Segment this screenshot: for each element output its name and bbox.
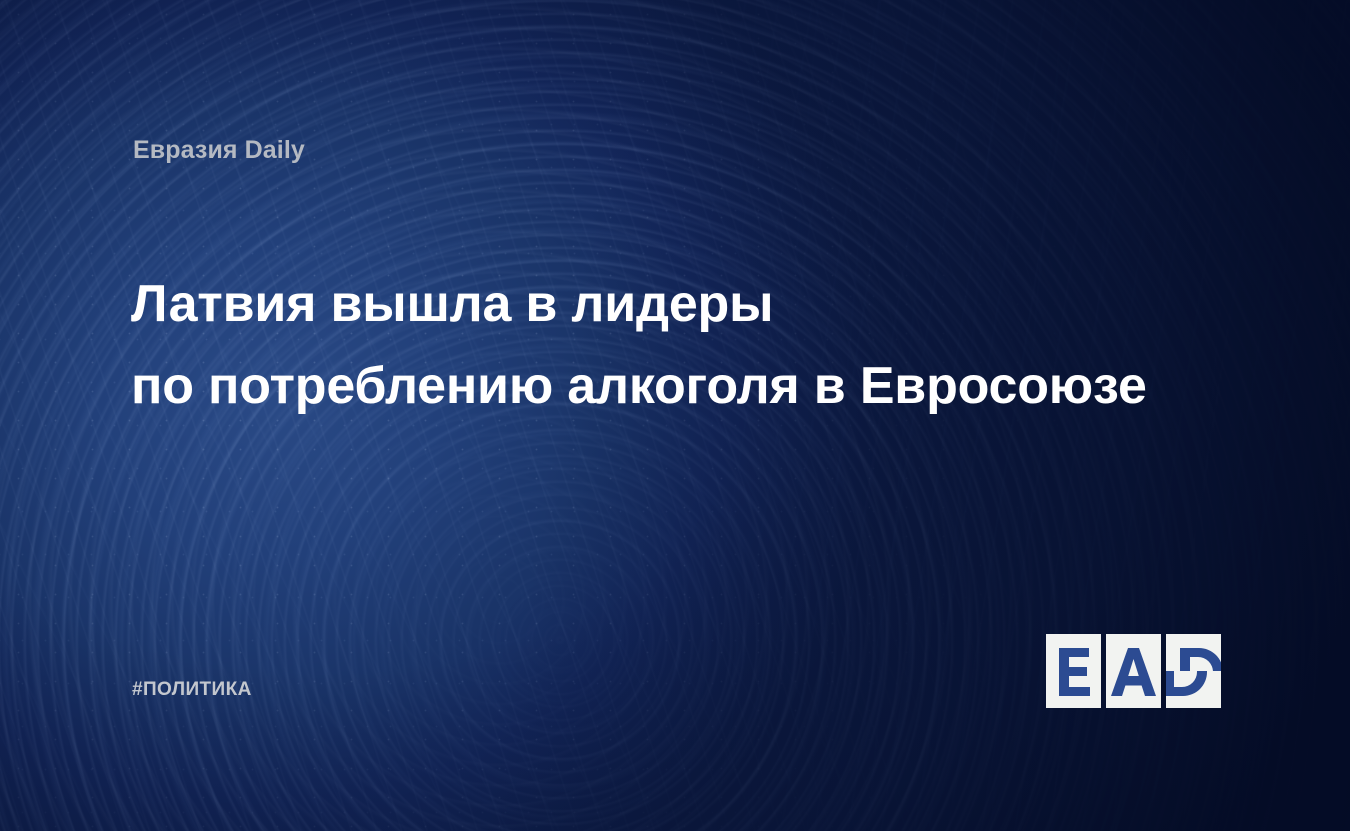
headline-line-1: Латвия вышла в лидеры — [131, 263, 1251, 345]
logo-letter-d-icon — [1166, 671, 1214, 708]
headline-line-2: по потреблению алкоголя в Евросоюзе — [131, 345, 1251, 427]
eadaily-logo[interactable] — [1046, 634, 1221, 708]
logo-letter-d-bottom-half — [1166, 671, 1221, 708]
brand-name: Евразия Daily — [133, 136, 305, 165]
logo-letter-d-icon — [1175, 634, 1221, 671]
news-share-card: Евразия Daily Латвия вышла в лидеры по п… — [0, 0, 1350, 831]
category-hashtag: #ПОЛИТИКА — [132, 679, 252, 701]
logo-letter-a-icon — [1106, 634, 1161, 708]
page-title: Латвия вышла в лидеры по потреблению алк… — [131, 263, 1251, 427]
card-content: Евразия Daily Латвия вышла в лидеры по п… — [0, 0, 1350, 831]
logo-letter-e-icon — [1046, 634, 1101, 708]
logo-tile-a — [1106, 634, 1161, 708]
logo-tile-d — [1166, 634, 1221, 708]
logo-tile-e — [1046, 634, 1101, 708]
logo-letter-d-top-half — [1166, 634, 1221, 671]
